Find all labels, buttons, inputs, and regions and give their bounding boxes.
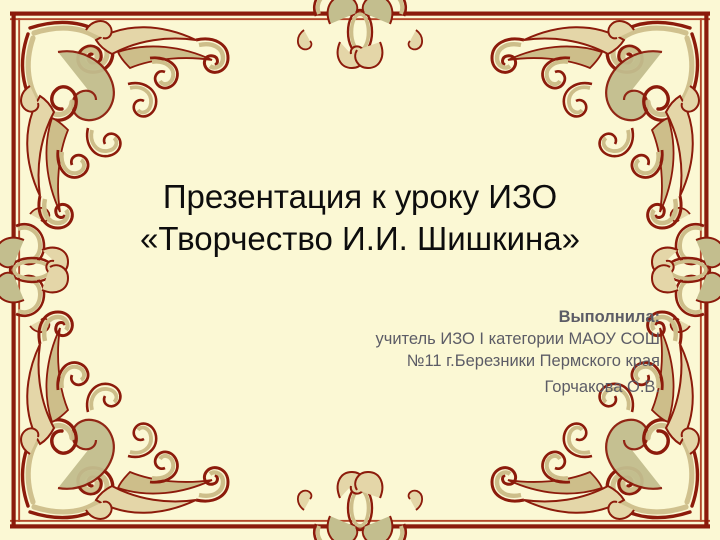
slide-title: Презентация к уроку ИЗО «Творчество И.И.… xyxy=(60,176,660,260)
subtitle-line-2: №11 г.Березники Пермского края xyxy=(300,350,660,372)
slide-subtitle: Выполнила: учитель ИЗО I категории МАОУ … xyxy=(300,306,660,398)
slide-content: Презентация к уроку ИЗО «Творчество И.И.… xyxy=(0,0,720,540)
subtitle-line-1: учитель ИЗО I категории МАОУ СОШ xyxy=(300,328,660,350)
subtitle-author: Горчакова О.В. xyxy=(300,376,660,398)
presentation-title-slide: Презентация к уроку ИЗО «Творчество И.И.… xyxy=(0,0,720,540)
title-line-2: «Творчество И.И. Шишкина» xyxy=(60,218,660,260)
title-line-1: Презентация к уроку ИЗО xyxy=(60,176,660,218)
subtitle-heading: Выполнила: xyxy=(300,306,660,328)
